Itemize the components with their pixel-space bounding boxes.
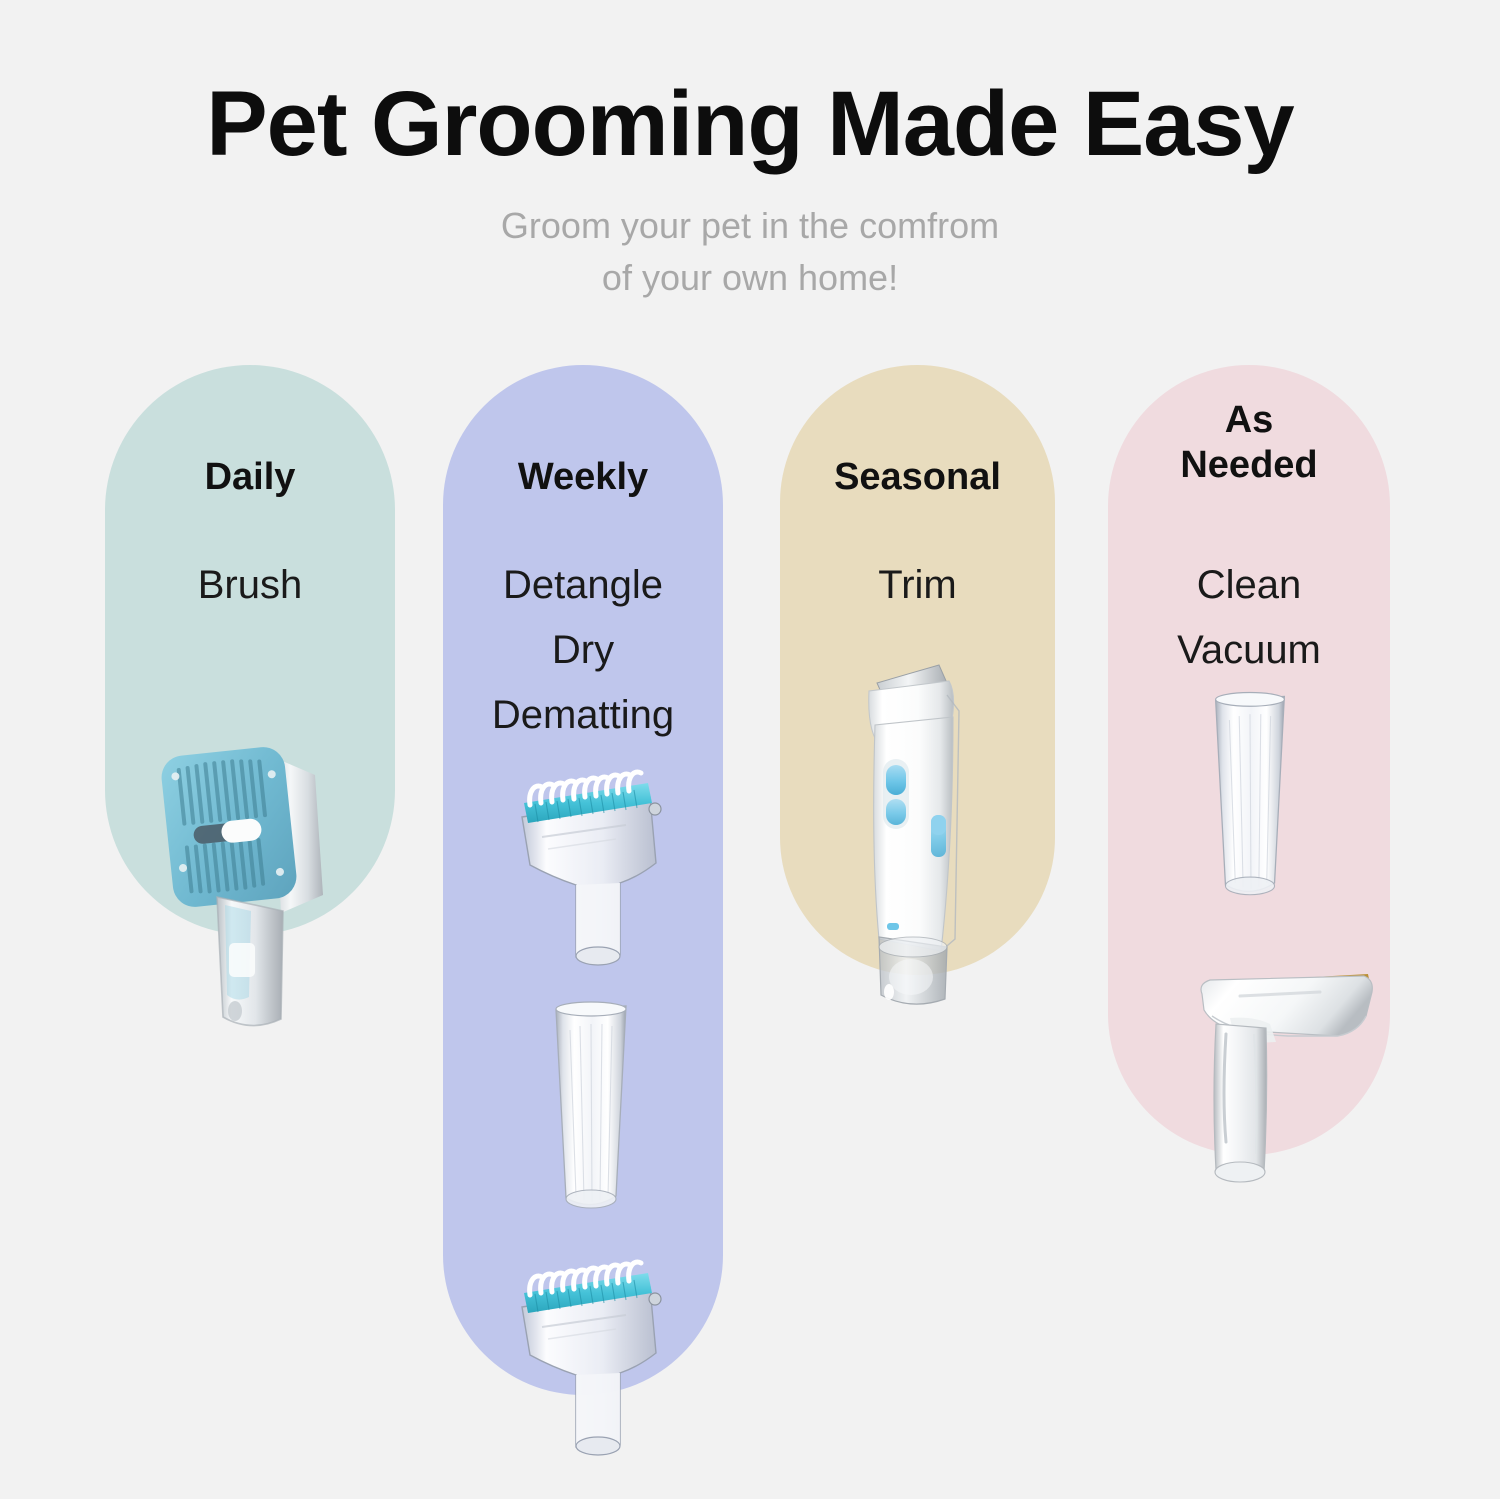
column-item: Dematting	[443, 683, 723, 748]
header: Pet Grooming Made Easy Groom your pet in…	[0, 0, 1500, 304]
column-label-as-needed: As Needed	[1108, 398, 1390, 488]
column-items-weekly: Detangle Dry Dematting	[443, 553, 723, 747]
infographic-canvas: Pet Grooming Made Easy Groom your pet in…	[0, 0, 1500, 1499]
column-item: Vacuum	[1108, 618, 1390, 683]
column-items-as-needed: Clean Vacuum	[1108, 553, 1390, 683]
column-label-line-2: Needed	[1108, 443, 1390, 488]
subtitle-line-2: of your own home!	[0, 252, 1500, 304]
page-title: Pet Grooming Made Easy	[0, 78, 1500, 170]
column-label-daily: Daily	[105, 455, 395, 500]
column-item: Trim	[780, 553, 1055, 618]
product-clipper-trimmer	[855, 655, 985, 1015]
column-item: Detangle	[443, 553, 723, 618]
column-label-line-1: As	[1108, 398, 1390, 443]
product-dematting-comb-attachment	[508, 765, 673, 980]
product-vacuum-cleaning-tool	[1168, 958, 1388, 1200]
subtitle-line-1: Groom your pet in the comfrom	[0, 200, 1500, 252]
product-drying-nozzle-attachment	[536, 1000, 646, 1225]
column-items-daily: Brush	[105, 553, 395, 618]
column-label-weekly: Weekly	[443, 455, 723, 500]
product-deshedding-brush-attachment	[155, 745, 345, 1035]
column-item: Dry	[443, 618, 723, 683]
column-item: Brush	[105, 553, 395, 618]
product-dematting-comb-attachment-2	[508, 1255, 673, 1470]
column-label-seasonal: Seasonal	[780, 455, 1055, 500]
column-items-seasonal: Trim	[780, 553, 1055, 618]
page-subtitle: Groom your pet in the comfrom of your ow…	[0, 200, 1500, 304]
column-item: Clean	[1108, 553, 1390, 618]
product-drying-nozzle-attachment-2	[1196, 690, 1304, 912]
